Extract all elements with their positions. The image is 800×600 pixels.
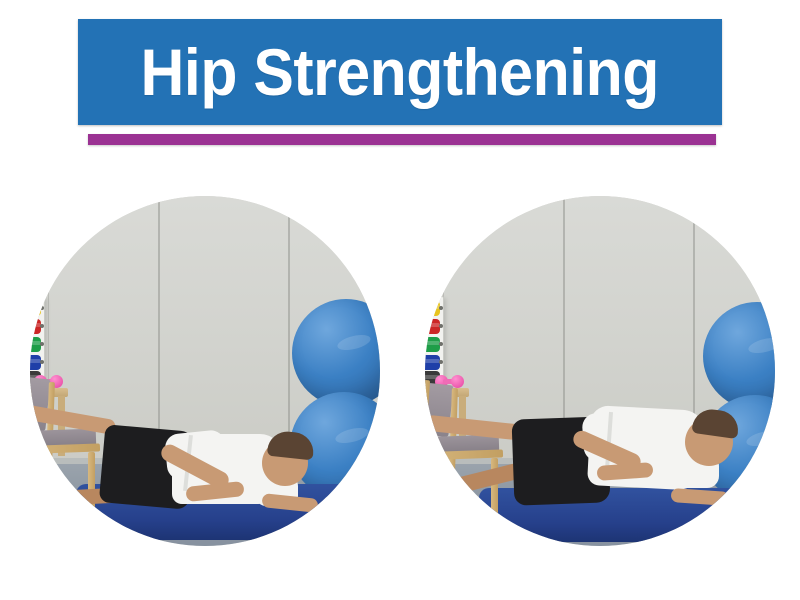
rack-pin	[439, 342, 443, 346]
resistance-band-green	[425, 337, 440, 352]
resistance-band-red	[425, 319, 440, 334]
rack-pin	[40, 324, 44, 328]
exercise-photo-start-position	[30, 196, 380, 546]
photo-scene-finish	[425, 196, 775, 546]
rack-pin	[439, 324, 443, 328]
chair-front-leg	[88, 452, 95, 514]
wall-panel-seam	[158, 196, 160, 464]
accent-divider-bar	[88, 134, 716, 145]
resistance-band-blue	[425, 355, 440, 370]
wall-panel-seam	[288, 196, 290, 464]
title-banner: Hip Strengthening	[78, 19, 722, 125]
rack-pin	[40, 342, 44, 346]
rack-pin	[40, 360, 44, 364]
resistance-band-yellow	[425, 301, 440, 316]
photo-scene-start	[30, 196, 380, 546]
rack-pin	[439, 306, 443, 310]
rack-pin	[439, 360, 443, 364]
page-title: Hip Strengthening	[141, 39, 659, 105]
rack-pin	[40, 306, 44, 310]
exercise-photo-finish-position	[425, 196, 775, 546]
